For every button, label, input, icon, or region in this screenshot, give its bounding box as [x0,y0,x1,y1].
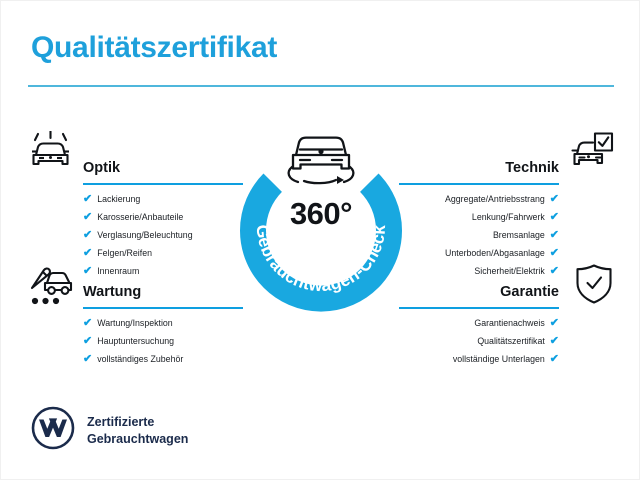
page-title: Qualitätszertifikat [31,31,277,65]
list-item: ✔Hauptuntersuchung [83,336,243,347]
footer-line-1: Zertifizierte [87,414,188,431]
check-icon: ✔ [550,230,559,241]
check-icon: ✔ [83,318,92,329]
list-item-label: Unterboden/Abgasanlage [445,249,545,258]
check-icon: ✔ [83,336,92,347]
section-garantie-title: Garantie [500,285,559,300]
footer-brand: Zertifizierte Gebrauchtwagen [31,406,188,455]
check-icon: ✔ [550,354,559,365]
section-garantie-list: Garantienachweis✔ Qualitätszertifikat✔ v… [399,318,559,365]
shield-check-icon [571,263,617,305]
list-item-label: vollständige Unterlagen [453,355,545,364]
list-item: Bremsanlage✔ [399,230,559,241]
list-item-label: Lenkung/Fahrwerk [472,213,545,222]
check-icon: ✔ [550,212,559,223]
list-item: ✔Felgen/Reifen [83,248,243,259]
section-technik-title: Technik [505,161,559,176]
check-icon: ✔ [83,230,92,241]
list-item: Qualitätszertifikat✔ [399,336,559,347]
list-item-label: Lackierung [97,195,140,204]
section-optik-divider [83,183,243,185]
list-item: ✔Verglasung/Beleuchtung [83,230,243,241]
list-item-label: Qualitätszertifikat [477,337,544,346]
section-garantie-header: Garantie [399,269,559,299]
badge-degrees: 360° [233,196,409,232]
qualitaetszertifikat-document: Qualitätszertifikat Optik [0,0,640,480]
check-icon: ✔ [550,336,559,347]
list-item: ✔Lackierung [83,194,243,205]
list-item: Lenkung/Fahrwerk✔ [399,212,559,223]
vw-logo [31,406,75,455]
section-wartung: Wartung ✔Wartung/Inspektion ✔Hauptunters… [83,269,243,381]
section-technik-divider [399,183,559,185]
section-optik-header: Optik [83,145,243,175]
check-icon: ✔ [550,194,559,205]
badge-360-gebrauchtwagen-check: Gebrauchtwagen-Check [233,123,409,313]
footer-line-2: Gebrauchtwagen [87,431,188,448]
list-item: vollständige Unterlagen✔ [399,354,559,365]
list-item-label: vollständiges Zubehör [97,355,183,364]
list-item-label: Aggregate/Antriebsstrang [445,195,545,204]
section-optik-list: ✔Lackierung ✔Karosserie/Anbauteile ✔Verg… [83,194,243,277]
header-divider [28,85,614,87]
list-item: Aggregate/Antriebsstrang✔ [399,194,559,205]
car-shine-icon [28,131,74,171]
list-item-label: Karosserie/Anbauteile [97,213,183,222]
check-icon: ✔ [83,212,92,223]
list-item-label: Bremsanlage [493,231,545,240]
section-optik-title: Optik [83,161,120,176]
list-item: Garantienachweis✔ [399,318,559,329]
section-technik-header: Technik [399,145,559,175]
section-wartung-title: Wartung [83,285,141,300]
footer-brand-text: Zertifizierte Gebrauchtwagen [87,414,188,448]
list-item: Unterboden/Abgasanlage✔ [399,248,559,259]
check-icon: ✔ [550,248,559,259]
section-wartung-list: ✔Wartung/Inspektion ✔Hauptuntersuchung ✔… [83,318,243,365]
list-item-label: Garantienachweis [474,319,544,328]
check-icon: ✔ [83,354,92,365]
list-item: ✔Wartung/Inspektion [83,318,243,329]
check-icon: ✔ [83,194,92,205]
list-item-label: Wartung/Inspektion [97,319,172,328]
check-icon: ✔ [550,318,559,329]
car-checkbox-icon [569,131,615,171]
car-service-wrench-icon [28,261,74,307]
list-item-label: Hauptuntersuchung [97,337,174,346]
section-technik-list: Aggregate/Antriebsstrang✔ Lenkung/Fahrwe… [399,194,559,277]
section-garantie: Garantie Garantienachweis✔ Qualitätszert… [399,269,559,381]
section-garantie-divider [399,307,559,309]
list-item: ✔vollständiges Zubehör [83,354,243,365]
list-item: ✔Karosserie/Anbauteile [83,212,243,223]
check-icon: ✔ [83,248,92,259]
list-item-label: Verglasung/Beleuchtung [97,231,192,240]
section-wartung-divider [83,307,243,309]
section-wartung-header: Wartung [83,269,243,299]
list-item-label: Felgen/Reifen [97,249,152,258]
